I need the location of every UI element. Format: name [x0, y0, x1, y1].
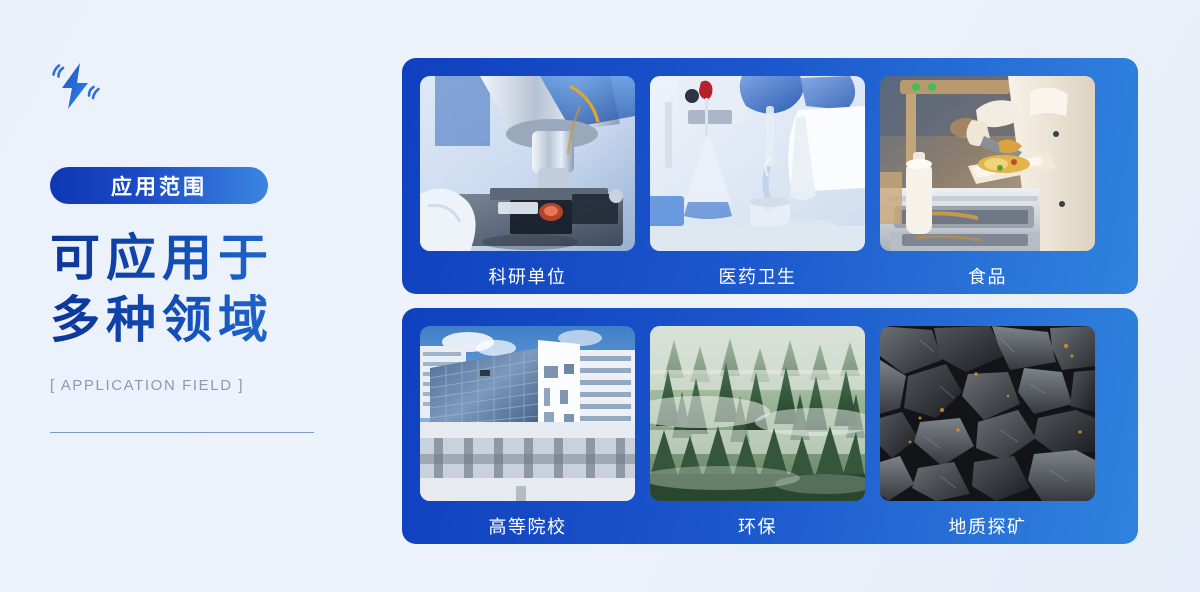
page-title: 可应用于 多种领域 — [50, 227, 370, 351]
subtitle-english: [ APPLICATION FIELD ] — [50, 377, 370, 394]
app-card-geology[interactable]: 地质探矿 — [880, 326, 1095, 544]
coal-rock-mineral-photo — [880, 326, 1095, 501]
lightning-bolt-signal-icon — [50, 60, 102, 112]
app-card-food[interactable]: 食品 — [880, 76, 1095, 294]
app-card-label: 食品 — [880, 263, 1095, 289]
app-card-research[interactable]: 科研单位 — [420, 76, 635, 294]
section-badge: 应用范围 — [50, 167, 268, 204]
app-card-label: 医药卫生 — [650, 263, 865, 289]
microscope-laboratory-photo — [420, 76, 635, 251]
app-card-environment[interactable]: 环保 — [650, 326, 865, 544]
card-panel-row-1: 科研单位 — [402, 58, 1138, 294]
application-cards-region: 科研单位 — [402, 58, 1138, 544]
card-panel-row-2: 高等院校 — [402, 308, 1138, 544]
headline-line-2: 多种领域 — [50, 289, 370, 351]
app-card-pharma[interactable]: 医药卫生 — [650, 76, 865, 294]
app-card-label: 科研单位 — [420, 263, 635, 289]
left-content-column: 应用范围 可应用于 多种领域 [ APPLICATION FIELD ] — [50, 60, 370, 433]
divider — [50, 432, 314, 433]
app-card-label: 环保 — [650, 513, 865, 539]
app-card-label: 地质探矿 — [880, 513, 1095, 539]
headline-line-1: 可应用于 — [50, 227, 370, 289]
section-badge-label: 应用范围 — [111, 171, 207, 201]
app-card-label: 高等院校 — [420, 513, 635, 539]
app-card-university[interactable]: 高等院校 — [420, 326, 635, 544]
university-campus-building-photo — [420, 326, 635, 501]
pharmaceutical-lab-glassware-photo — [650, 76, 865, 251]
chef-plating-food-photo — [880, 76, 1095, 251]
misty-forest-photo — [650, 326, 865, 501]
